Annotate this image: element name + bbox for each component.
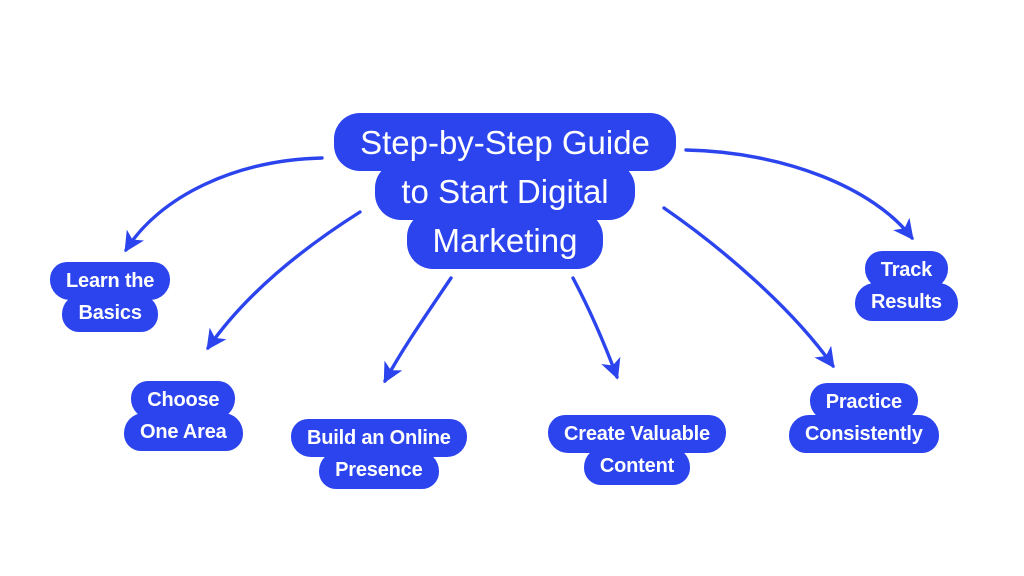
branch-node-track-results-line-1: Track (865, 251, 948, 289)
edge-central-to-learn-the-basics (126, 158, 322, 250)
branch-node-choose-one-area[interactable]: Choose One Area (124, 381, 243, 451)
branch-node-build-an-online-presence[interactable]: Build an Online Presence (291, 419, 467, 489)
branch-node-practice-consistently-line-1: Practice (810, 383, 918, 421)
branch-node-learn-the-basics-line-1: Learn the (50, 262, 170, 300)
branch-node-create-valuable-content-line-1: Create Valuable (548, 415, 726, 453)
branch-node-learn-the-basics[interactable]: Learn the Basics (50, 262, 170, 332)
branch-node-practice-consistently[interactable]: Practice Consistently (789, 383, 939, 453)
branch-node-track-results[interactable]: Track Results (855, 251, 958, 321)
mindmap-canvas: Step-by-Step Guide to Start Digital Mark… (0, 0, 1024, 576)
central-node-line-1: Step-by-Step Guide (334, 113, 676, 171)
branch-node-create-valuable-content[interactable]: Create Valuable Content (548, 415, 726, 485)
branch-node-choose-one-area-line-1: Choose (131, 381, 235, 419)
branch-node-build-an-online-presence-line-1: Build an Online (291, 419, 467, 457)
edge-central-to-build-an-online-presence (385, 278, 451, 381)
central-node[interactable]: Step-by-Step Guide to Start Digital Mark… (320, 113, 690, 269)
edge-central-to-track-results (686, 150, 912, 238)
edge-central-to-create-valuable-content (573, 278, 617, 377)
